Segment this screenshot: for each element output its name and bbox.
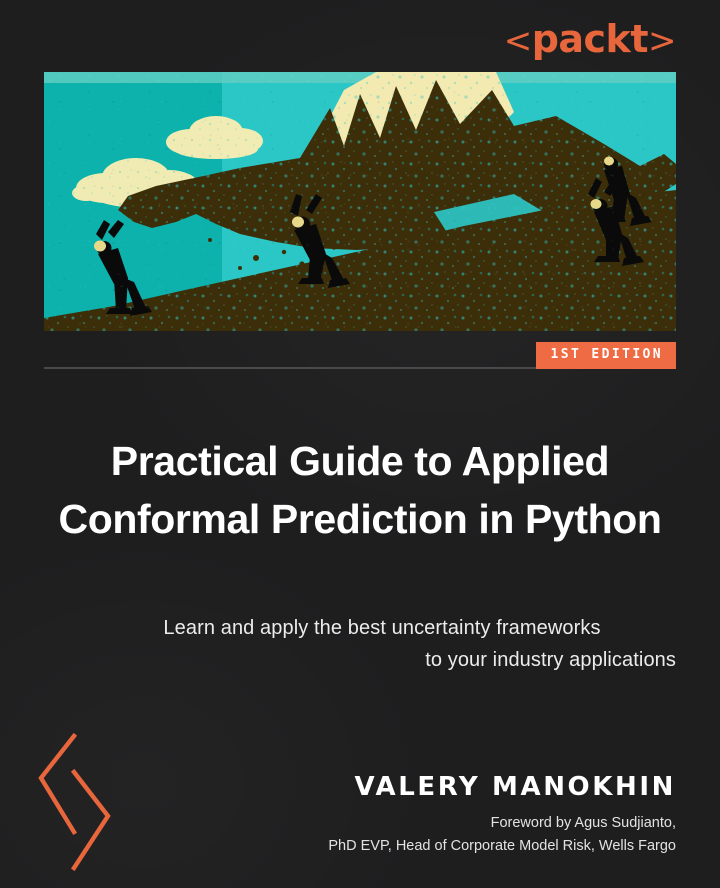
chevron-mark-icon: [38, 728, 173, 888]
foreword-credit: Foreword by Agus Sudjianto, PhD EVP, Hea…: [328, 812, 676, 857]
illustration-artwork: [44, 72, 676, 331]
book-title-line-2: Conformal Prediction in Python: [44, 490, 676, 548]
packt-logo: <packt>: [504, 20, 676, 58]
cloud-icon-small: [166, 116, 263, 159]
book-subtitle: Learn and apply the best uncertainty fra…: [60, 612, 676, 677]
cover-illustration: [44, 72, 676, 331]
book-subtitle-line-2: to your industry applications: [60, 644, 676, 676]
foreword-line-2: PhD EVP, Head of Corporate Model Risk, W…: [328, 835, 676, 857]
foreword-line-1: Foreword by Agus Sudjianto,: [328, 812, 676, 834]
book-cover: <packt>: [0, 0, 720, 888]
book-subtitle-line-1: Learn and apply the best uncertainty fra…: [60, 612, 676, 644]
decorative-chevron-mark: [38, 728, 173, 888]
logo-bracket-open-icon: <: [504, 21, 532, 61]
book-title-line-1: Practical Guide to Applied: [44, 432, 676, 490]
logo-wordmark: packt: [532, 17, 648, 61]
logo-bracket-close-icon: >: [648, 21, 676, 61]
book-title: Practical Guide to Applied Conformal Pre…: [44, 432, 676, 548]
edition-badge: 1ST EDITION: [536, 342, 677, 369]
author-block: VALERY MANOKHIN Foreword by Agus Sudjian…: [328, 772, 676, 857]
author-name: VALERY MANOKHIN: [328, 772, 676, 803]
